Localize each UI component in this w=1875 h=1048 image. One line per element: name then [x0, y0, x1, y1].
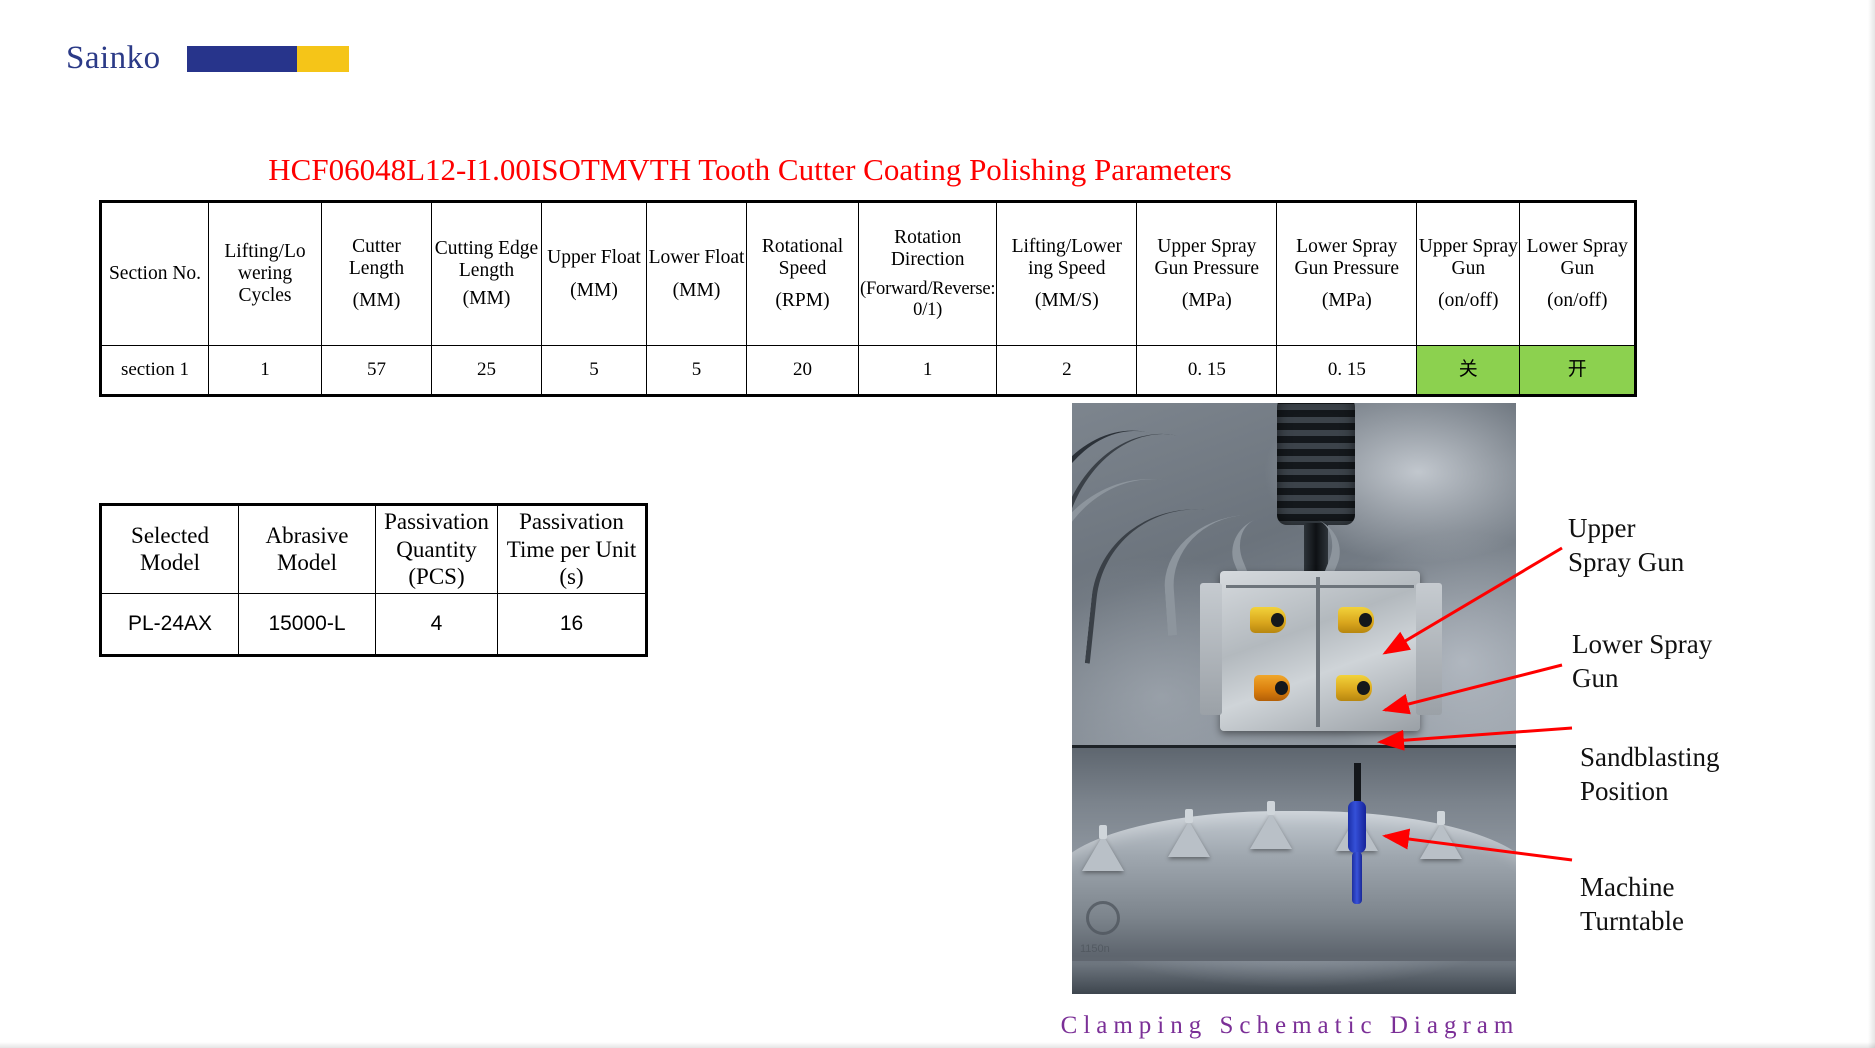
upper-spray-nozzle-right [1338, 607, 1374, 633]
tool-holder-pin [1437, 811, 1445, 825]
table-row: PL-24AX 15000-L 4 16 [101, 593, 647, 655]
cell-rotation-direction: 1 [859, 346, 997, 396]
bellows-boot [1277, 403, 1355, 525]
sandblasting-tool [1348, 801, 1366, 853]
header-lower-float: Lower Float (MM) [647, 202, 747, 346]
header-selected-model: Selected Model [101, 505, 239, 594]
nozzle-orifice [1357, 681, 1370, 695]
tool-holder-cone [1082, 835, 1124, 871]
header-lifting-lowering-cycles: Lifting/Lo wering Cycles [209, 202, 322, 346]
nozzle-orifice [1359, 613, 1372, 627]
cell-selected-model: PL-24AX [101, 593, 239, 655]
clamping-schematic-photo: 1150n [1072, 403, 1516, 994]
abrasive-table: Selected Model Abrasive Model Passivatio… [99, 503, 648, 657]
header-lifting-lowering-speed: Lifting/Lower ing Speed (MM/S) [997, 202, 1137, 346]
table-header-row: Section No. Lifting/Lo wering Cycles Cut… [101, 202, 1636, 346]
callout-machine-turntable: Machine Turntable [1580, 871, 1684, 939]
lower-spray-nozzle-right [1336, 675, 1372, 701]
cell-upper-float: 5 [542, 346, 647, 396]
cell-upper-spray-gun-pressure: 0. 15 [1137, 346, 1277, 396]
turntable-logo-icon [1086, 901, 1120, 935]
cell-rotational-speed: 20 [747, 346, 859, 396]
header-upper-spray-gun-pressure: Upper Spray Gun Pressure (MPa) [1137, 202, 1277, 346]
tool-holder-pin [1267, 801, 1275, 815]
mount-bracket-right [1416, 583, 1442, 715]
page-edge-right [1868, 0, 1875, 1048]
upper-spray-nozzle-left [1250, 607, 1286, 633]
page-title: HCF06048L12-I1.00ISOTMVTH Tooth Cutter C… [0, 152, 1500, 188]
nozzle-orifice [1275, 681, 1288, 695]
manifold-centerline [1316, 577, 1320, 727]
cell-cutter-length: 57 [322, 346, 432, 396]
header-lower-spray-gun: Lower Spray Gun (on/off) [1520, 202, 1636, 346]
blue-tool-lower [1352, 852, 1362, 904]
mount-bracket-left [1200, 583, 1222, 715]
parameters-table: Section No. Lifting/Lo wering Cycles Cut… [99, 200, 1637, 397]
lower-spray-nozzle-left [1254, 675, 1290, 701]
header-upper-spray-gun: Upper Spray Gun (on/off) [1417, 202, 1520, 346]
page-edge-bottom [0, 1042, 1875, 1048]
cell-lower-spray-gun-pressure: 0. 15 [1277, 346, 1417, 396]
logo-wordmark: Sainko [66, 40, 161, 77]
header-upper-float: Upper Float (MM) [542, 202, 647, 346]
nozzle-orifice [1271, 613, 1284, 627]
abrasive-header-row: Selected Model Abrasive Model Passivatio… [101, 505, 647, 594]
callout-lower-spray-gun: Lower Spray Gun [1572, 628, 1712, 696]
header-passivation-quantity: Passivation Quantity (PCS) [376, 505, 498, 594]
tool-holder-cone [1420, 823, 1462, 859]
header-passivation-time: Passivation Time per Unit (s) [498, 505, 647, 594]
cell-upper-spray-gun-state: 关 [1417, 346, 1520, 396]
tool-holder-cone [1168, 821, 1210, 857]
cell-lower-spray-gun-state: 开 [1520, 346, 1636, 396]
logo-bars [187, 46, 349, 72]
header-rotation-direction: Rotation Direction (Forward/Reverse: 0/1… [859, 202, 997, 346]
table-row: section 1 1 57 25 5 5 20 1 2 0. 15 0. 15… [101, 346, 1636, 396]
diagram-caption: Clamping Schematic Diagram [1030, 1012, 1550, 1040]
logo-bar-yellow [297, 46, 349, 72]
cell-lower-float: 5 [647, 346, 747, 396]
tool-holder-pin [1185, 809, 1193, 823]
logo-bar-blue [187, 46, 297, 72]
callout-sandblasting-position: Sandblasting Position [1580, 741, 1720, 809]
cell-passivation-time: 16 [498, 593, 647, 655]
tool-holder-pin [1099, 825, 1107, 839]
photo-upper-region [1072, 403, 1516, 748]
header-rotational-speed: Rotational Speed (RPM) [747, 202, 859, 346]
manifold-groove [1226, 585, 1414, 588]
header-lower-spray-gun-pressure: Lower Spray Gun Pressure (MPa) [1277, 202, 1417, 346]
header-cutter-length: Cutter Length (MM) [322, 202, 432, 346]
brand-logo: Sainko [66, 40, 349, 77]
cell-section-no: section 1 [101, 346, 209, 396]
callout-upper-spray-gun: Upper Spray Gun [1568, 512, 1684, 580]
cell-passivation-quantity: 4 [376, 593, 498, 655]
page-root: Sainko HCF06048L12-I1.00ISOTMVTH Tooth C… [0, 0, 1875, 1048]
turntable-logo-text: 1150n [1080, 943, 1110, 955]
header-abrasive-model: Abrasive Model [239, 505, 376, 594]
cell-cutting-edge-length: 25 [432, 346, 542, 396]
spray-gun-manifold [1220, 571, 1420, 731]
header-section-no: Section No. [101, 202, 209, 346]
tool-holder-cone [1250, 813, 1292, 849]
cell-lifting-lowering-cycles: 1 [209, 346, 322, 396]
cell-abrasive-model: 15000-L [239, 593, 376, 655]
header-cutting-edge-length: Cutting Edge Length (MM) [432, 202, 542, 346]
cell-lifting-lowering-speed: 2 [997, 346, 1137, 396]
